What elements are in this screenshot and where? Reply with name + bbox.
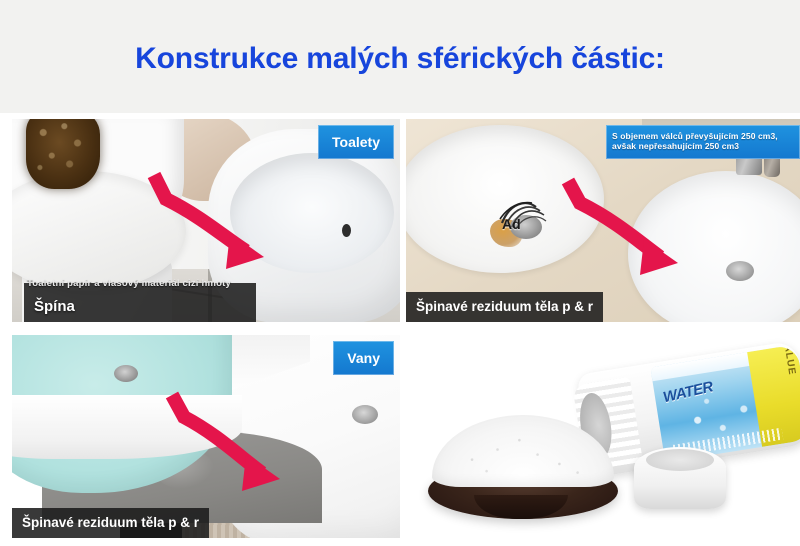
panel-badge-sinks[interactable]: S objemem válců převyšujícím 250 cm3, av…	[606, 125, 800, 159]
clean-sink-drain	[726, 261, 754, 281]
sink-caption: Špinavé reziduum těla p & r	[406, 292, 603, 322]
ad-overlay-label: Ad	[502, 216, 521, 232]
toilet-caption-group: Toaletní papír a vlasový materiál cizí h…	[24, 278, 256, 322]
panel-sinks[interactable]: Ad S objemem válců převyšujícím 250 cm3,…	[406, 119, 800, 322]
panel-badge-bathtubs[interactable]: Vany	[333, 341, 394, 375]
panel-grid: Toalety Toaletní papír a vlasový materiá…	[0, 113, 800, 546]
panel-toilets[interactable]: Toalety Toaletní papír a vlasový materiá…	[12, 119, 400, 322]
panel-bathtubs[interactable]: Vany Špinavé reziduum těla p & r	[12, 335, 400, 538]
page-title: Konstrukce malých sférických částic:	[135, 42, 665, 76]
bottle-cap-interior	[646, 449, 714, 471]
clean-bathtub-drain	[352, 405, 378, 424]
dirty-toilet-water-stain	[26, 119, 100, 189]
panel-product[interactable]: WATER VALUE	[406, 335, 800, 538]
bathtub-caption: Špinavé reziduum těla p & r	[12, 508, 209, 538]
dirty-bathtub-drain	[114, 365, 138, 382]
clean-toilet-interior	[230, 153, 394, 273]
toilet-caption-small: Toaletní papír a vlasový materiál cizí h…	[27, 278, 257, 290]
page-header: Konstrukce malých sférických částic:	[0, 0, 800, 113]
toilet-drain-hole	[342, 224, 351, 237]
product-photo: WATER VALUE	[406, 335, 800, 538]
toilet-caption-large: Špína	[34, 298, 75, 315]
panel-badge-toilets[interactable]: Toalety	[318, 125, 394, 159]
